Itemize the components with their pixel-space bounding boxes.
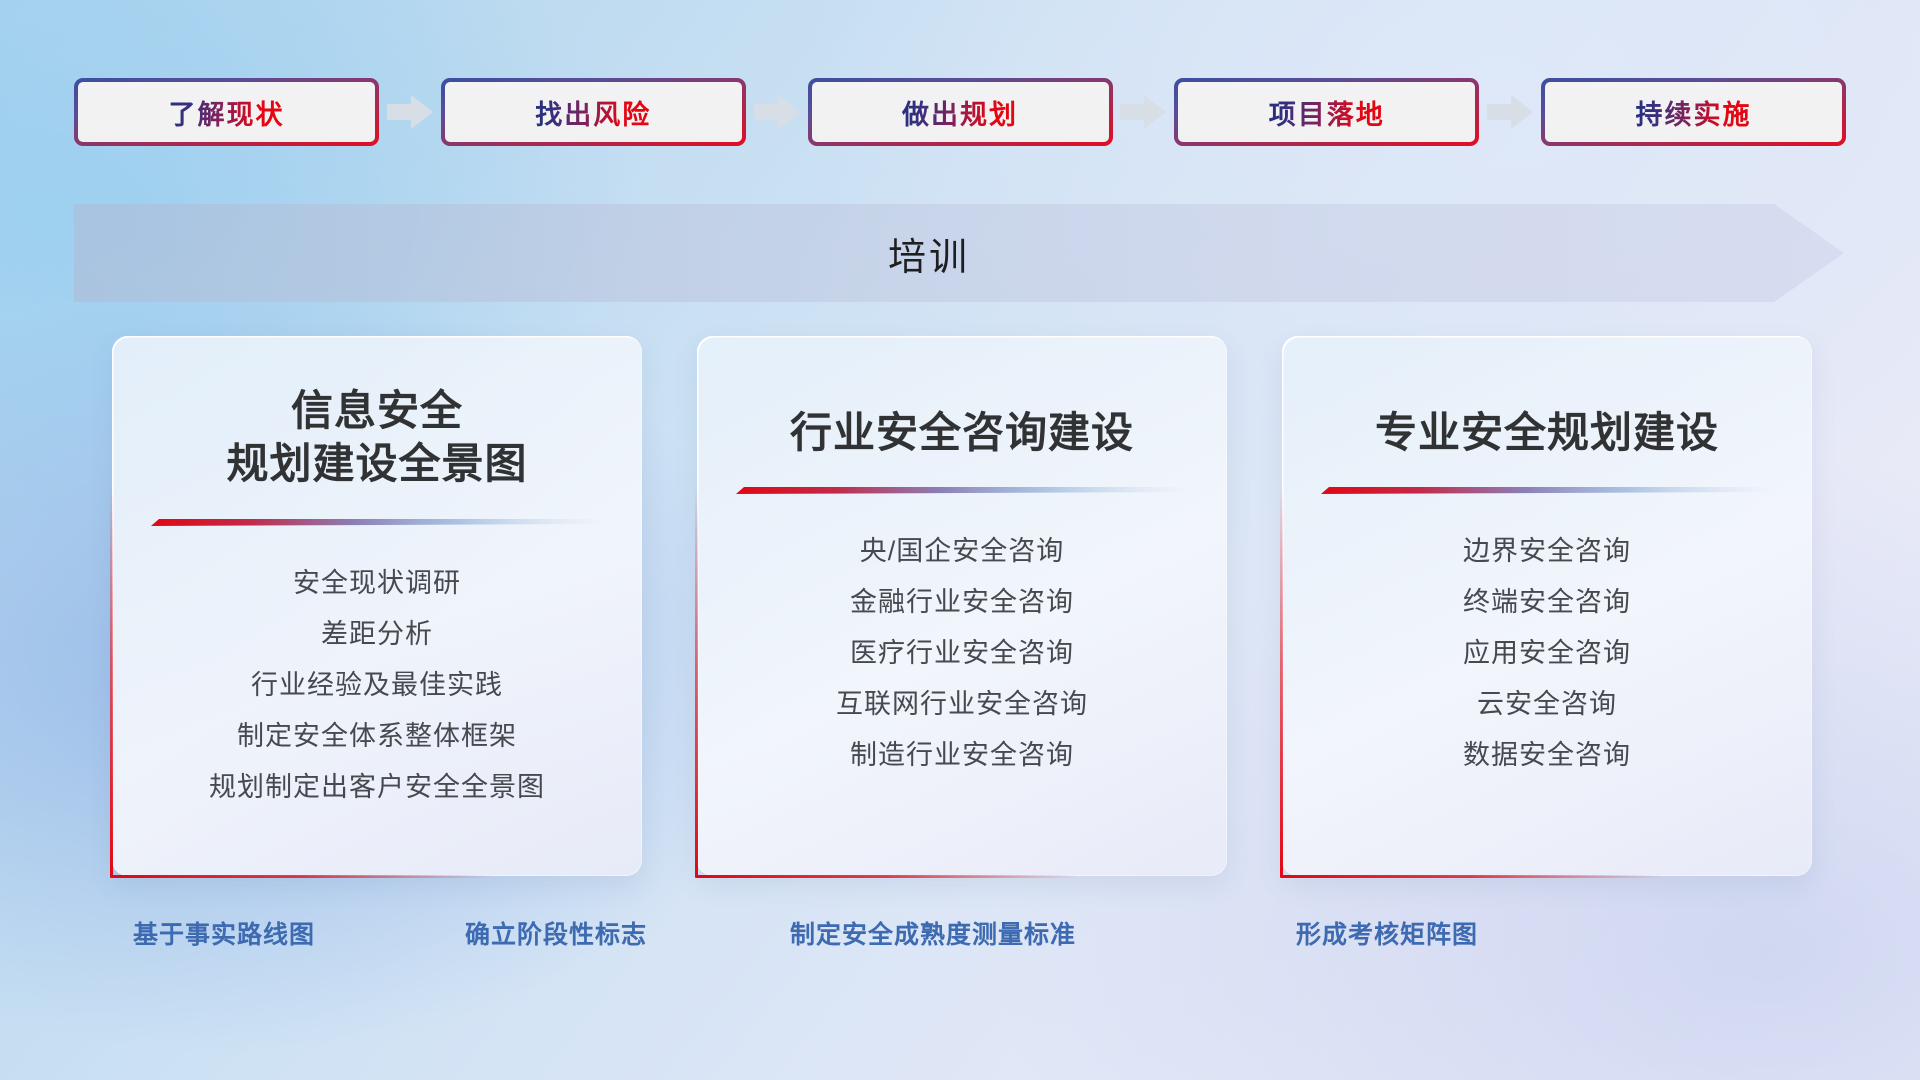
- list-item: 金融行业安全咨询: [850, 577, 1074, 628]
- footer-label: 形成考核矩阵图: [1296, 915, 1478, 951]
- list-item: 制造行业安全咨询: [850, 730, 1074, 781]
- step-chip-label: 找出风险: [535, 93, 651, 132]
- banner-title: 培训: [74, 204, 1844, 302]
- list-item: 差距分析: [321, 609, 433, 660]
- footer-label: 制定安全成熟度测量标准: [790, 915, 1076, 951]
- footer-label: 基于事实路线图: [133, 915, 315, 951]
- list-item: 医疗行业安全咨询: [850, 628, 1074, 679]
- step-chip-1[interactable]: 了解现状: [74, 78, 379, 146]
- list-item: 安全现状调研: [293, 558, 461, 609]
- arrow-right-icon: [1120, 95, 1166, 129]
- card-industry-consulting[interactable]: 行业安全咨询建设 央/国企安全咨询: [697, 336, 1227, 876]
- card-title: 信息安全 规划建设全景图: [226, 384, 527, 491]
- footer-label-row: 基于事实路线图 确立阶段性标志 制定安全成熟度测量标准 形成考核矩阵图: [0, 915, 1920, 961]
- card-row: 信息安全 规划建设全景图: [112, 336, 1812, 876]
- card-title-line: 规划建设全景图: [226, 437, 527, 490]
- card-title: 行业安全咨询建设: [790, 406, 1134, 459]
- step-chip-label: 了解现状: [169, 93, 285, 132]
- card-divider-icon: [151, 517, 603, 526]
- list-item: 终端安全咨询: [1463, 577, 1631, 628]
- card-panorama[interactable]: 信息安全 规划建设全景图: [112, 336, 642, 876]
- list-item: 数据安全咨询: [1463, 730, 1631, 781]
- step-chip-5[interactable]: 持续实施: [1541, 78, 1846, 146]
- step-chip-2[interactable]: 找出风险: [441, 78, 746, 146]
- list-item: 行业经验及最佳实践: [251, 660, 503, 711]
- card-title: 专业安全规划建设: [1375, 406, 1719, 459]
- step-chip-3[interactable]: 做出规划: [808, 78, 1113, 146]
- step-chip-label: 项目落地: [1269, 93, 1385, 132]
- arrow-right-icon: [1487, 95, 1533, 129]
- card-divider-icon: [1321, 485, 1773, 494]
- training-banner: 培训: [74, 204, 1844, 302]
- card-item-list: 边界安全咨询 终端安全咨询 应用安全咨询 云安全咨询 数据安全咨询: [1316, 526, 1778, 781]
- card-divider-icon: [736, 485, 1188, 494]
- process-steps: 了解现状 找出风险 做出规划 项目落地 持续实施: [74, 78, 1846, 146]
- list-item: 边界安全咨询: [1463, 526, 1631, 577]
- list-item: 央/国企安全咨询: [860, 526, 1065, 577]
- card-title-line: 专业安全规划建设: [1375, 406, 1719, 459]
- list-item: 云安全咨询: [1477, 679, 1617, 730]
- list-item: 规划制定出客户安全全景图: [209, 762, 545, 813]
- footer-label: 确立阶段性标志: [465, 915, 647, 951]
- step-chip-4[interactable]: 项目落地: [1174, 78, 1479, 146]
- step-chip-label: 做出规划: [902, 93, 1018, 132]
- arrow-right-icon: [387, 95, 433, 129]
- card-item-list: 安全现状调研 差距分析 行业经验及最佳实践 制定安全体系整体框架 规划制定出客户…: [146, 558, 608, 813]
- list-item: 制定安全体系整体框架: [237, 711, 517, 762]
- card-item-list: 央/国企安全咨询 金融行业安全咨询 医疗行业安全咨询 互联网行业安全咨询 制造行…: [731, 526, 1193, 781]
- list-item: 应用安全咨询: [1463, 628, 1631, 679]
- card-title-line: 信息安全: [226, 384, 527, 437]
- list-item: 互联网行业安全咨询: [836, 679, 1088, 730]
- arrow-right-icon: [754, 95, 800, 129]
- step-chip-label: 持续实施: [1636, 93, 1752, 132]
- infographic-canvas: 了解现状 找出风险 做出规划 项目落地 持续实施 培训 信息安全: [0, 0, 1920, 1080]
- card-professional-planning[interactable]: 专业安全规划建设 边界安全咨询: [1282, 336, 1812, 876]
- card-title-line: 行业安全咨询建设: [790, 406, 1134, 459]
